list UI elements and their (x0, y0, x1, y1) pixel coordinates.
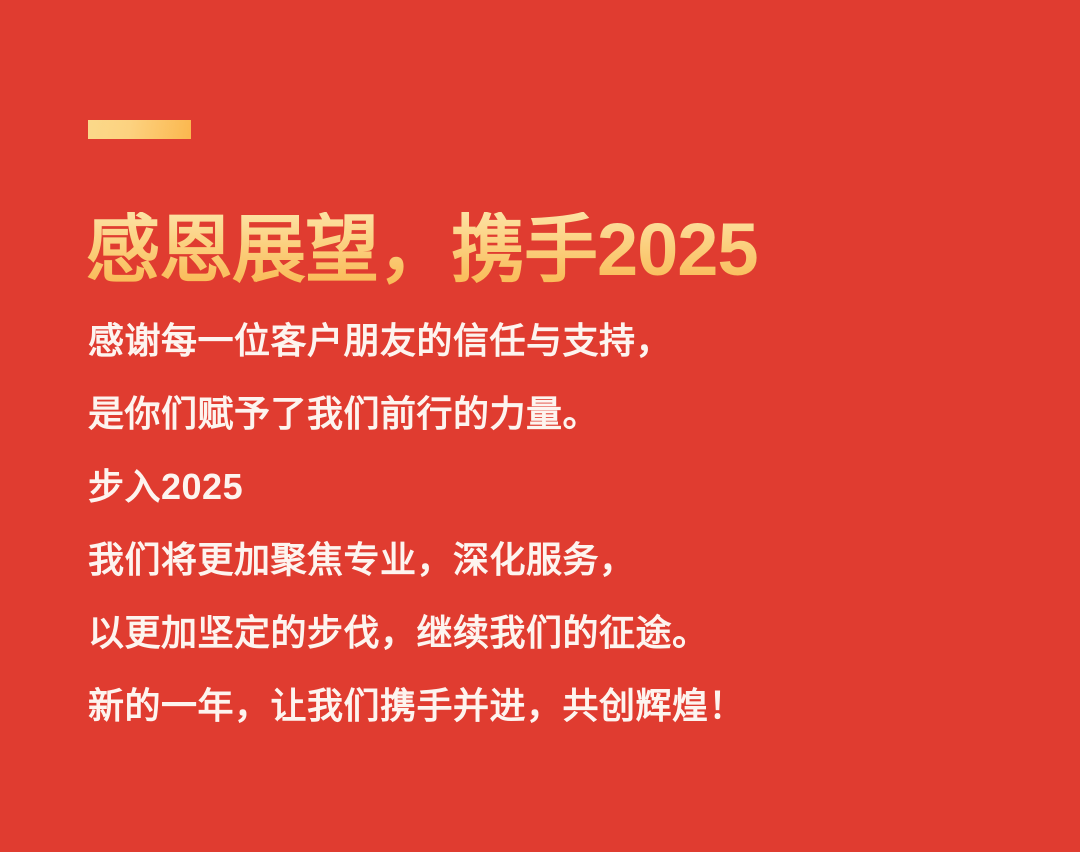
body-line: 是你们赋予了我们前行的力量。 (88, 396, 988, 469)
gradient-accent-bar (88, 120, 191, 139)
body-line: 新的一年，让我们携手并进，共创辉煌！ (88, 688, 988, 761)
body-copy-block: 感谢每一位客户朋友的信任与支持， 是你们赋予了我们前行的力量。 步入2025 我… (88, 323, 988, 761)
body-line: 步入2025 (88, 469, 988, 542)
page-title: 感恩展望，携手2025 (86, 212, 758, 289)
body-line: 以更加坚定的步伐，继续我们的征途。 (88, 615, 988, 688)
body-line: 感谢每一位客户朋友的信任与支持， (88, 323, 988, 396)
body-line: 我们将更加聚焦专业，深化服务， (88, 542, 988, 615)
new-year-greeting-poster: 感恩展望，携手2025 感谢每一位客户朋友的信任与支持， 是你们赋予了我们前行的… (0, 0, 1080, 852)
